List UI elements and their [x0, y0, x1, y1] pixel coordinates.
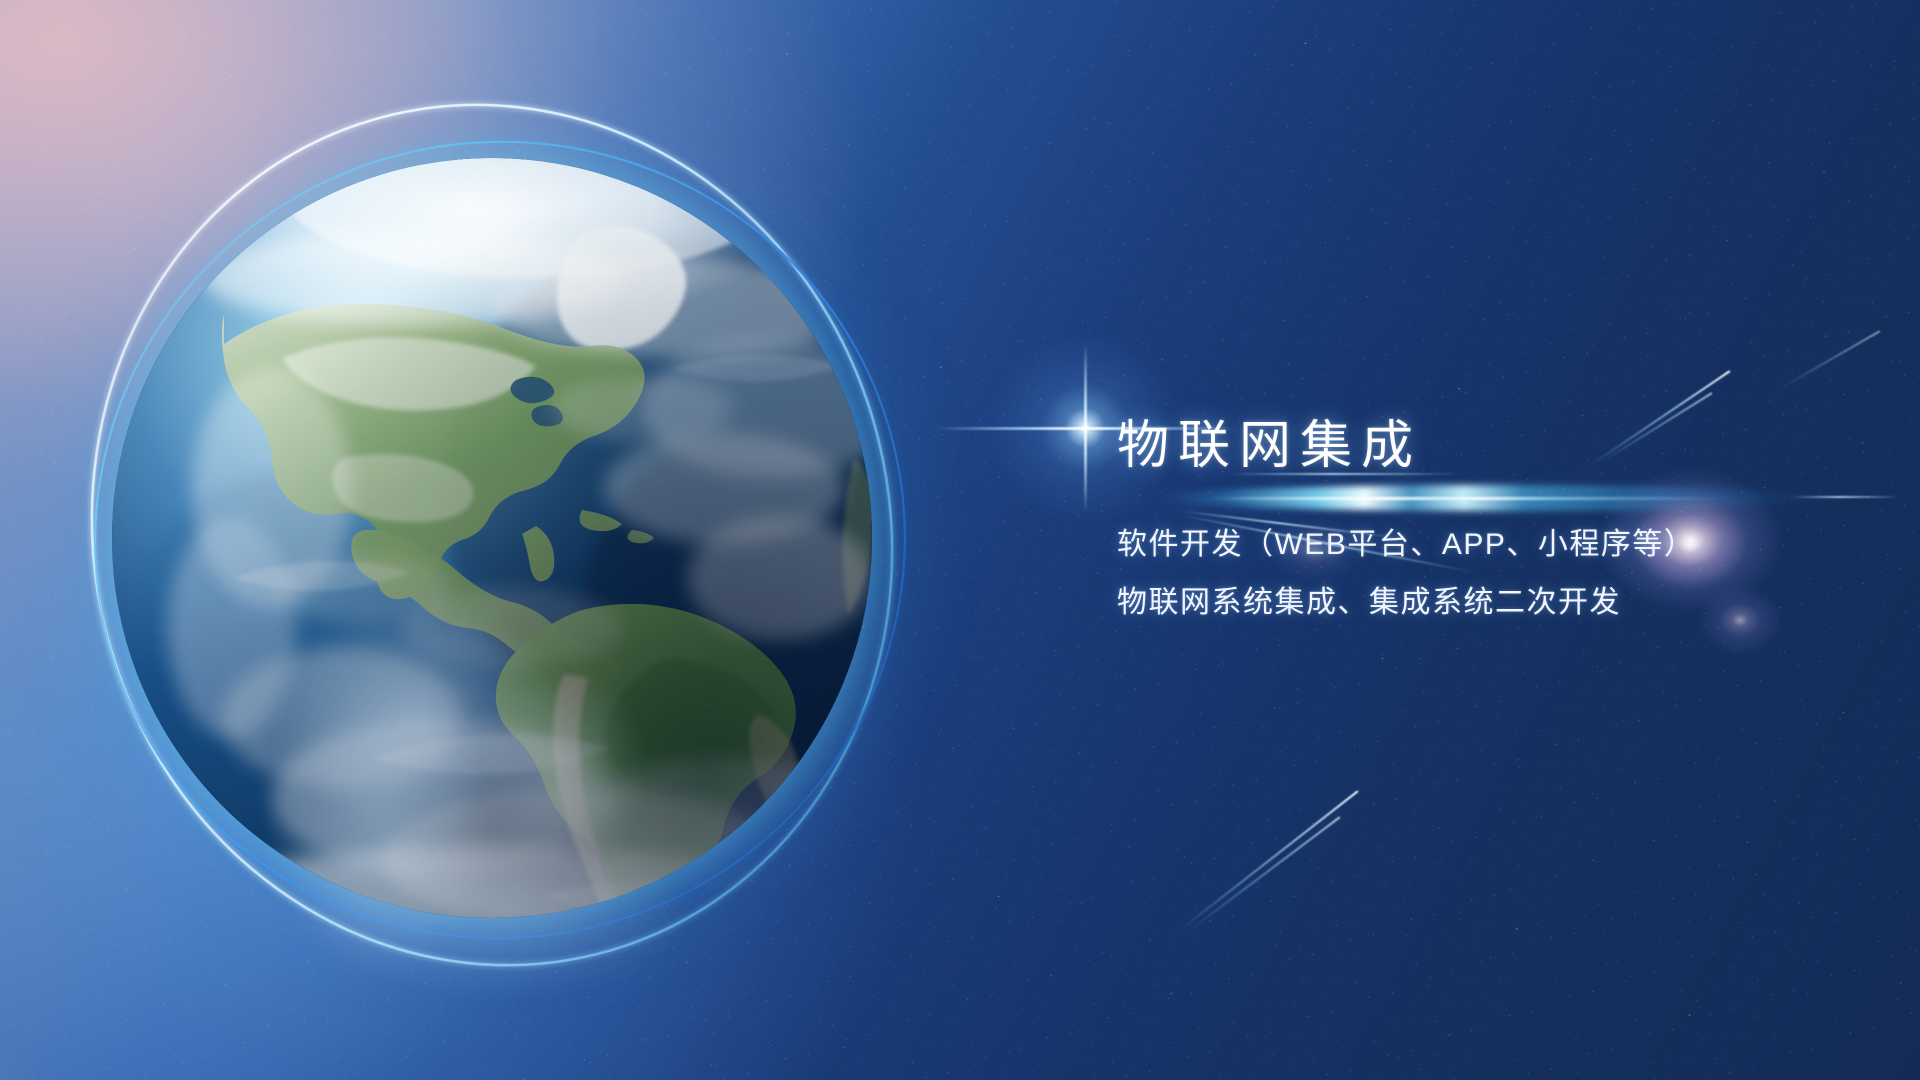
hero-banner: 物联网集成 软件开发（WEB平台、APP、小程序等） 物联网系统集成、集成系统二… [0, 0, 1920, 1080]
earth-globe [112, 158, 872, 918]
hero-copy: 物联网集成 软件开发（WEB平台、APP、小程序等） 物联网系统集成、集成系统二… [1117, 420, 1877, 618]
globe-rim-light [112, 158, 872, 918]
globe-sphere [112, 158, 872, 918]
meteor-streak-lower-a [1176, 790, 1358, 933]
page-title: 物联网集成 [1117, 420, 1877, 472]
hero-subline-2: 物联网系统集成、集成系统二次开发 [1117, 588, 1877, 618]
meteor-streak-lower-b [1188, 816, 1341, 932]
meteor-streak-right-edge [1776, 330, 1881, 392]
hero-subline-1: 软件开发（WEB平台、APP、小程序等） [1117, 530, 1877, 560]
